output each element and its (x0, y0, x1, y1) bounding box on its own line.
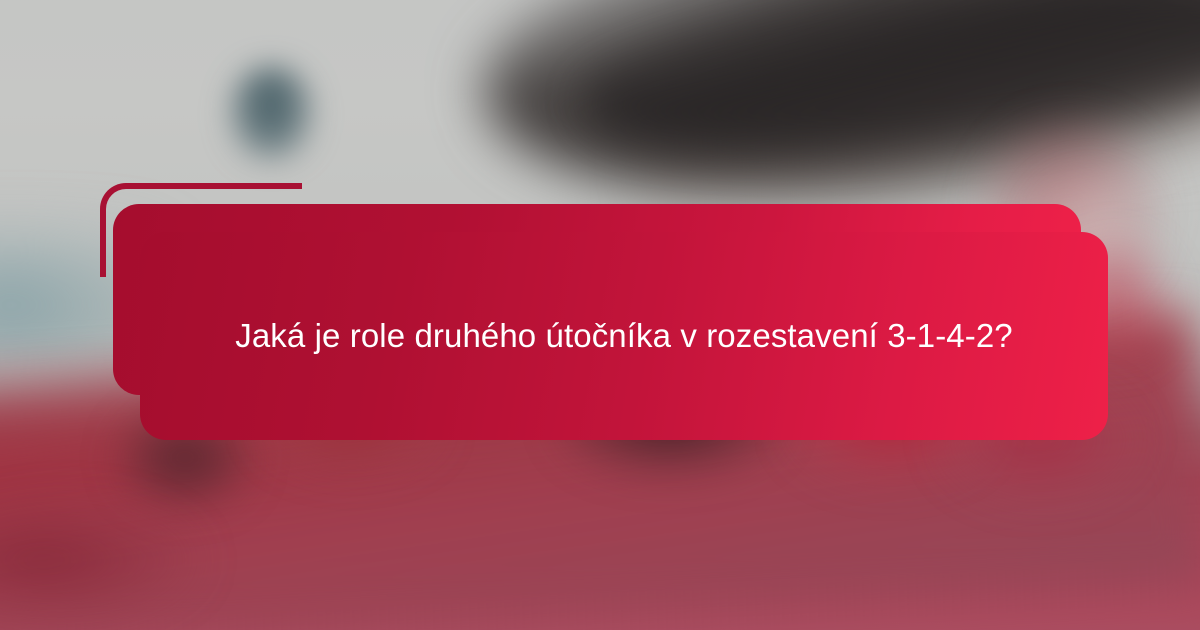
question-card: Jaká je role druhého útočníka v rozestav… (140, 232, 1108, 440)
promo-card-graphic: Jaká je role druhého útočníka v rozestav… (0, 0, 1200, 630)
question-line-2: 3-1-4-2? (887, 317, 1013, 354)
background-figure (228, 66, 314, 162)
question-line-1: Jaká je role druhého útočníka v rozestav… (235, 317, 878, 354)
question-text: Jaká je role druhého útočníka v rozestav… (195, 311, 1053, 361)
